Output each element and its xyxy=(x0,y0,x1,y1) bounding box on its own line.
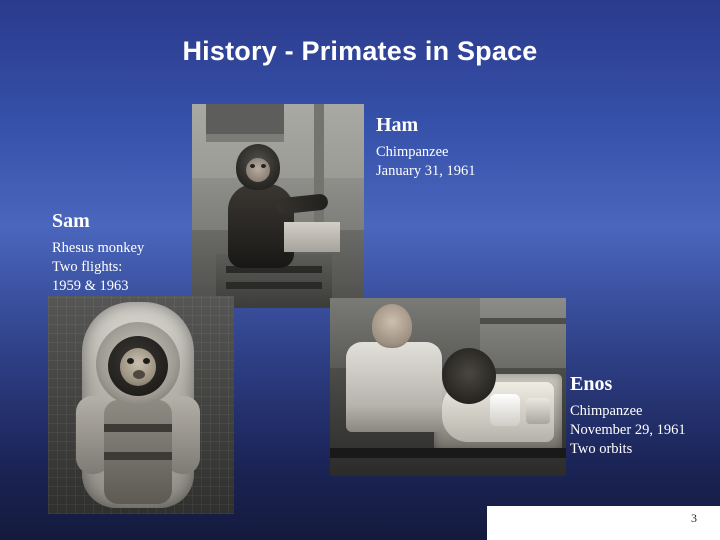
subject-species-ham: Chimpanzee xyxy=(376,143,475,162)
subject-block-enos: Enos Chimpanzee November 29, 1961 Two or… xyxy=(570,372,686,459)
photo-chimp-face xyxy=(456,364,482,390)
photo-structure-post xyxy=(314,104,324,230)
photo-chimp-eye-left xyxy=(250,164,255,168)
subject-block-ham: Ham Chimpanzee January 31, 1961 xyxy=(376,113,475,181)
ham-chimpanzee-photo xyxy=(192,104,364,308)
subject-detail2-sam: 1959 & 1963 xyxy=(52,277,144,296)
photo-technician-body xyxy=(346,342,442,432)
subject-name-sam: Sam xyxy=(52,209,144,233)
photo-restraint-strap-upper xyxy=(104,424,172,432)
photo-technician-head xyxy=(372,304,412,348)
sam-rhesus-monkey-photo xyxy=(48,296,234,514)
photo-monkey-snout xyxy=(133,370,145,379)
subject-name-enos: Enos xyxy=(570,372,686,396)
photo-monkey-face xyxy=(120,348,156,386)
subject-detail1-enos: November 29, 1961 xyxy=(570,421,686,440)
photo-chimp-eye-right xyxy=(261,164,266,168)
subject-name-ham: Ham xyxy=(376,113,475,137)
subject-detail1-ham: January 31, 1961 xyxy=(376,162,475,181)
photo-chimp-face xyxy=(246,158,270,182)
photo-structure-beam-edge xyxy=(206,134,284,142)
photo-restraint-strap-lower xyxy=(104,452,172,460)
page-title: History - Primates in Space xyxy=(0,36,720,67)
photo-structure-beam xyxy=(206,104,284,134)
subject-detail1-sam: Two flights: xyxy=(52,258,144,277)
photo-lab-equipment-panel xyxy=(480,298,566,368)
photo-monkey-eye-left xyxy=(127,358,134,364)
photo-equipment-module-left xyxy=(490,394,520,426)
photo-table-rail xyxy=(330,448,566,458)
subject-block-sam: Sam Rhesus monkey Two flights: 1959 & 19… xyxy=(52,209,144,296)
subject-species-sam: Rhesus monkey xyxy=(52,239,144,258)
slide-canvas: History - Primates in Space xyxy=(0,0,720,540)
photo-chair-slot-lower xyxy=(226,282,322,289)
enos-chimpanzee-photo xyxy=(330,298,566,476)
photo-equipment-module-right xyxy=(526,398,550,424)
subject-species-enos: Chimpanzee xyxy=(570,402,686,421)
photo-monkey-eye-right xyxy=(143,358,150,364)
photo-control-panel xyxy=(284,222,340,252)
page-number: 3 xyxy=(684,511,704,526)
photo-lab-equipment-panel-line xyxy=(480,318,566,324)
subject-detail2-enos: Two orbits xyxy=(570,440,686,459)
